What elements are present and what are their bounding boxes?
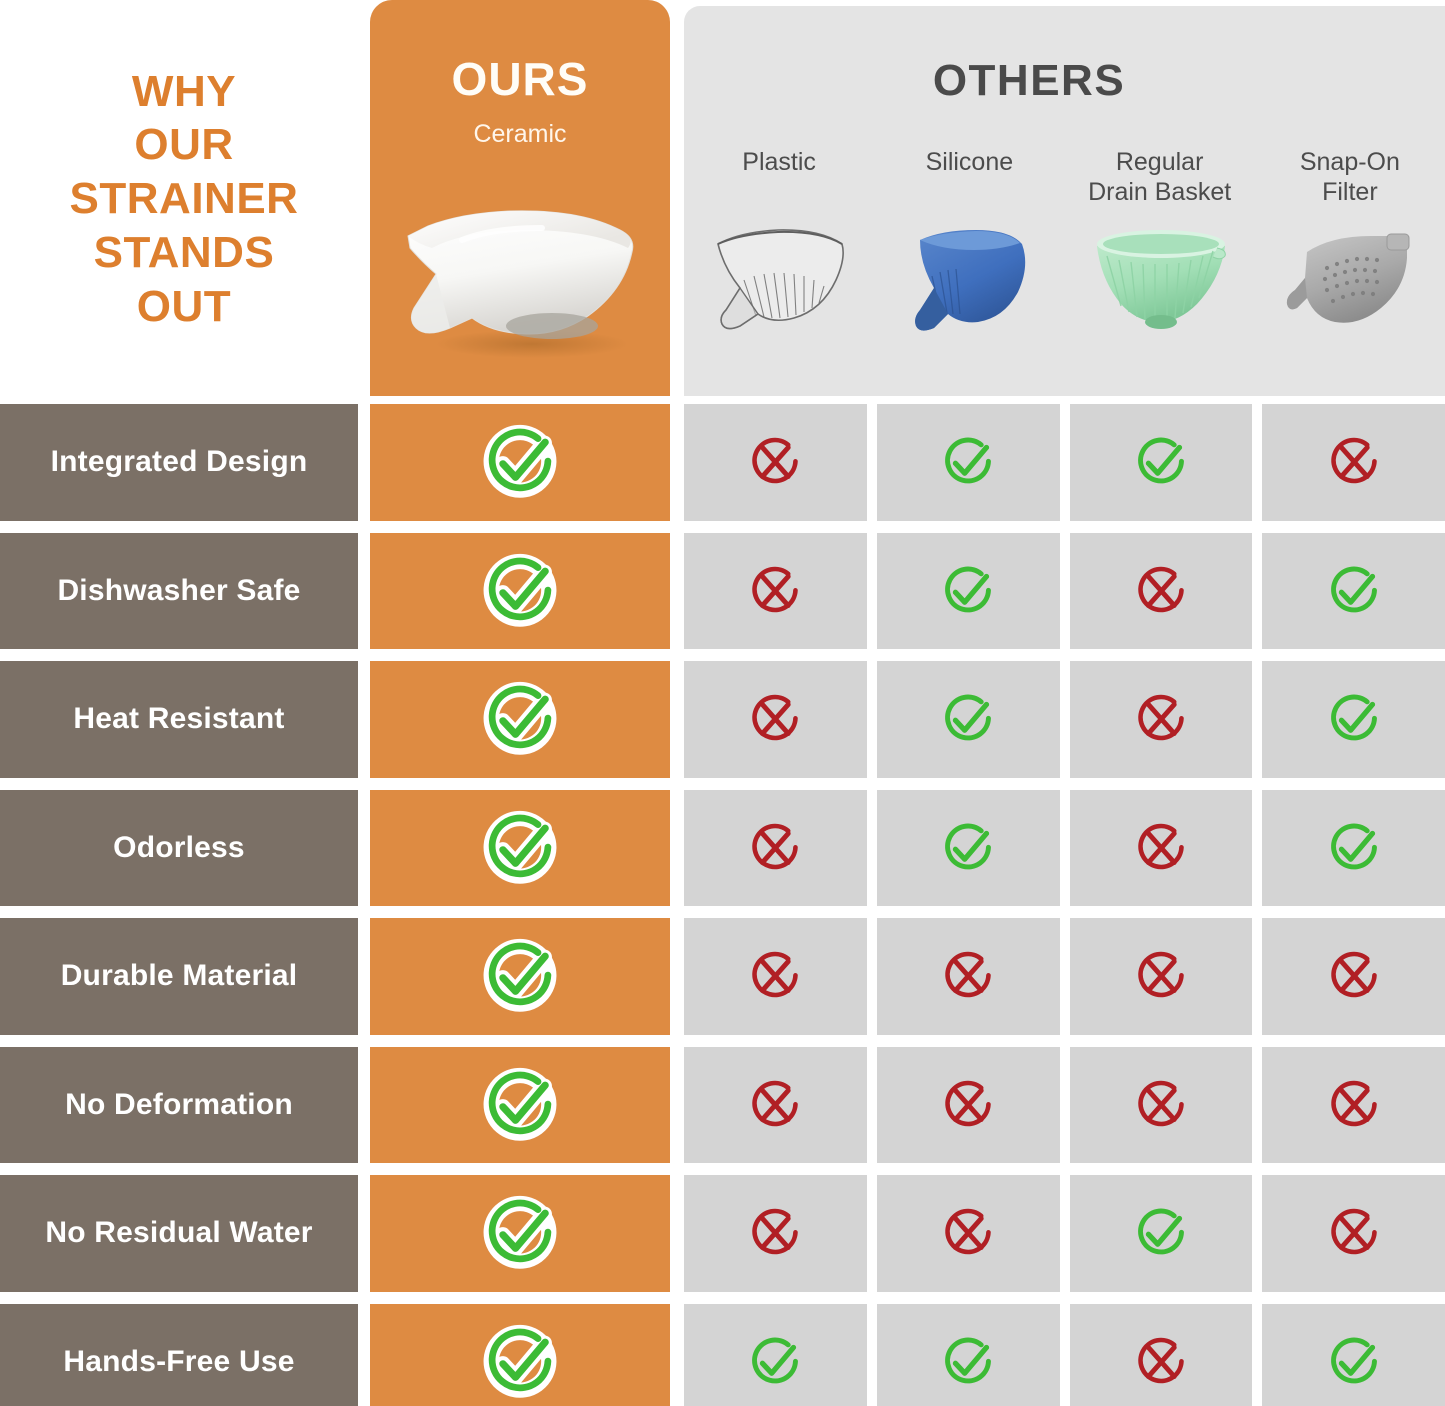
others-subcolumns: Plastic (684, 146, 1445, 396)
other-result-cell (877, 790, 1060, 907)
circle-check-icon (475, 1060, 565, 1150)
other-column-label: Regular Drain Basket (1088, 146, 1231, 212)
other-result-cell (1070, 918, 1253, 1035)
ours-product-image (392, 178, 650, 358)
column-gap (670, 1298, 684, 1406)
others-result-cells (684, 533, 1445, 650)
ours-result-cell (370, 790, 670, 907)
others-result-cells (684, 1175, 1445, 1292)
silicone-strainer-image (890, 218, 1048, 342)
circle-x-icon (1128, 1329, 1194, 1395)
others-result-cells (684, 790, 1445, 907)
other-column-label: Plastic (742, 146, 816, 212)
circle-x-icon (935, 1200, 1001, 1266)
column-gap (358, 1041, 370, 1170)
circle-check-icon (742, 1329, 808, 1395)
other-result-cell (684, 790, 867, 907)
other-column-label: Snap-On Filter (1300, 146, 1400, 212)
other-result-cell (1070, 661, 1253, 778)
ours-result-cell (370, 661, 670, 778)
other-result-cell (1070, 1047, 1253, 1164)
other-column-plastic: Plastic (684, 146, 874, 396)
other-result-cell (1070, 1175, 1253, 1292)
other-column-snap-on-filter: Snap-On Filter (1255, 146, 1445, 396)
column-gap (358, 912, 370, 1041)
other-result-cell (1262, 1304, 1445, 1406)
circle-check-icon (1128, 1200, 1194, 1266)
other-result-cell (877, 1175, 1060, 1292)
feature-label: No Deformation (65, 1088, 293, 1122)
column-gap (358, 398, 370, 527)
other-result-cell (877, 661, 1060, 778)
table-row-1: Integrated Design (0, 398, 1445, 527)
other-result-cell (877, 533, 1060, 650)
circle-check-icon (1321, 558, 1387, 624)
circle-check-icon (475, 803, 565, 893)
feature-label: Hands-Free Use (63, 1345, 294, 1379)
comparison-rows: Integrated Design Dishwasher Safe Heat R… (0, 398, 1445, 1406)
feature-label-cell: No Residual Water (0, 1175, 358, 1292)
other-result-cell (684, 533, 867, 650)
circle-check-icon (935, 429, 1001, 495)
column-gap (670, 527, 684, 656)
other-result-cell (1070, 404, 1253, 521)
column-gap (358, 784, 370, 913)
other-result-cell (1262, 533, 1445, 650)
circle-x-icon (1321, 1200, 1387, 1266)
table-row-5: Durable Material (0, 912, 1445, 1041)
other-result-cell (1262, 918, 1445, 1035)
other-column-silicone: Silicone (874, 146, 1064, 396)
circle-check-icon (1321, 815, 1387, 881)
circle-check-icon (475, 417, 565, 507)
table-row-7: No Residual Water (0, 1169, 1445, 1298)
others-title: OTHERS (684, 56, 1374, 106)
circle-x-icon (1128, 686, 1194, 752)
feature-label-cell: Odorless (0, 790, 358, 907)
ours-column-header: OURS Ceramic (370, 0, 670, 396)
table-row-6: No Deformation (0, 1041, 1445, 1170)
other-result-cell (684, 404, 867, 521)
circle-x-icon (742, 558, 808, 624)
ours-result-cell (370, 404, 670, 521)
other-result-cell (684, 1175, 867, 1292)
other-result-cell (1070, 533, 1253, 650)
feature-label-cell: Hands-Free Use (0, 1304, 358, 1406)
other-result-cell (1262, 790, 1445, 907)
circle-check-icon (475, 546, 565, 636)
other-result-cell (877, 404, 1060, 521)
circle-check-icon (1128, 429, 1194, 495)
headline-block: WHY OUR STRAINER STANDS OUT (0, 0, 368, 398)
circle-x-icon (1128, 815, 1194, 881)
feature-label-cell: Durable Material (0, 918, 358, 1035)
other-column-label: Silicone (926, 146, 1014, 212)
ours-result-cell (370, 1175, 670, 1292)
others-result-cells (684, 918, 1445, 1035)
ours-title: OURS (370, 52, 670, 106)
column-gap (670, 784, 684, 913)
feature-label: Dishwasher Safe (57, 574, 300, 608)
circle-check-icon (475, 931, 565, 1021)
comparison-chart-page: WHY OUR STRAINER STANDS OUT OURS Ceramic (0, 0, 1445, 1406)
feature-label: Heat Resistant (73, 702, 284, 736)
ours-result-cell (370, 1047, 670, 1164)
other-result-cell (877, 1047, 1060, 1164)
circle-x-icon (1321, 943, 1387, 1009)
other-result-cell (877, 918, 1060, 1035)
circle-x-icon (1128, 1072, 1194, 1138)
other-result-cell (1262, 404, 1445, 521)
feature-label-cell: Integrated Design (0, 404, 358, 521)
circle-check-icon (1321, 686, 1387, 752)
other-result-cell (877, 1304, 1060, 1406)
column-gap (670, 655, 684, 784)
circle-x-icon (742, 815, 808, 881)
circle-x-icon (742, 943, 808, 1009)
column-gap (670, 912, 684, 1041)
drain-basket-image (1081, 218, 1239, 342)
feature-label: No Residual Water (45, 1216, 312, 1250)
feature-label-cell: Dishwasher Safe (0, 533, 358, 650)
column-gap (670, 398, 684, 527)
circle-x-icon (935, 1072, 1001, 1138)
plastic-strainer-image (700, 218, 858, 342)
circle-x-icon (1128, 558, 1194, 624)
circle-check-icon (475, 1317, 565, 1406)
circle-check-icon (475, 1188, 565, 1278)
table-row-3: Heat Resistant (0, 655, 1445, 784)
chart-header: WHY OUR STRAINER STANDS OUT OURS Ceramic (0, 0, 1445, 398)
table-row-2: Dishwasher Safe (0, 527, 1445, 656)
table-row-8: Hands-Free Use (0, 1298, 1445, 1406)
circle-x-icon (1321, 1072, 1387, 1138)
circle-check-icon (935, 558, 1001, 624)
other-result-cell (684, 1304, 867, 1406)
ours-result-cell (370, 918, 670, 1035)
column-gap (358, 527, 370, 656)
other-result-cell (1262, 1047, 1445, 1164)
others-result-cells (684, 661, 1445, 778)
circle-check-icon (935, 1329, 1001, 1395)
feature-label-cell: Heat Resistant (0, 661, 358, 778)
others-column-header: OTHERS Plastic (684, 6, 1445, 396)
circle-check-icon (1321, 1329, 1387, 1395)
column-gap (670, 1169, 684, 1298)
ours-result-cell (370, 533, 670, 650)
ours-subtitle: Ceramic (370, 120, 670, 149)
feature-label: Odorless (113, 831, 245, 865)
snap-on-filter-image (1271, 218, 1429, 342)
column-gap (358, 1169, 370, 1298)
feature-label-cell: No Deformation (0, 1047, 358, 1164)
circle-check-icon (935, 686, 1001, 752)
page-title: WHY OUR STRAINER STANDS OUT (70, 65, 299, 333)
others-result-cells (684, 404, 1445, 521)
circle-x-icon (742, 429, 808, 495)
other-result-cell (1262, 661, 1445, 778)
others-result-cells (684, 1304, 1445, 1406)
circle-x-icon (935, 943, 1001, 1009)
ours-result-cell (370, 1304, 670, 1406)
feature-label: Durable Material (61, 959, 298, 993)
other-result-cell (684, 661, 867, 778)
circle-x-icon (742, 1200, 808, 1266)
other-result-cell (1262, 1175, 1445, 1292)
other-result-cell (684, 1047, 867, 1164)
column-gap (670, 1041, 684, 1170)
others-result-cells (684, 1047, 1445, 1164)
other-column-drain-basket: Regular Drain Basket (1065, 146, 1255, 396)
other-result-cell (684, 918, 867, 1035)
circle-check-icon (935, 815, 1001, 881)
other-result-cell (1070, 1304, 1253, 1406)
circle-x-icon (742, 686, 808, 752)
circle-x-icon (742, 1072, 808, 1138)
feature-label: Integrated Design (51, 445, 308, 479)
circle-x-icon (1321, 429, 1387, 495)
circle-check-icon (475, 674, 565, 764)
table-row-4: Odorless (0, 784, 1445, 913)
other-result-cell (1070, 790, 1253, 907)
column-gap (358, 1298, 370, 1406)
circle-x-icon (1128, 943, 1194, 1009)
column-gap (358, 655, 370, 784)
